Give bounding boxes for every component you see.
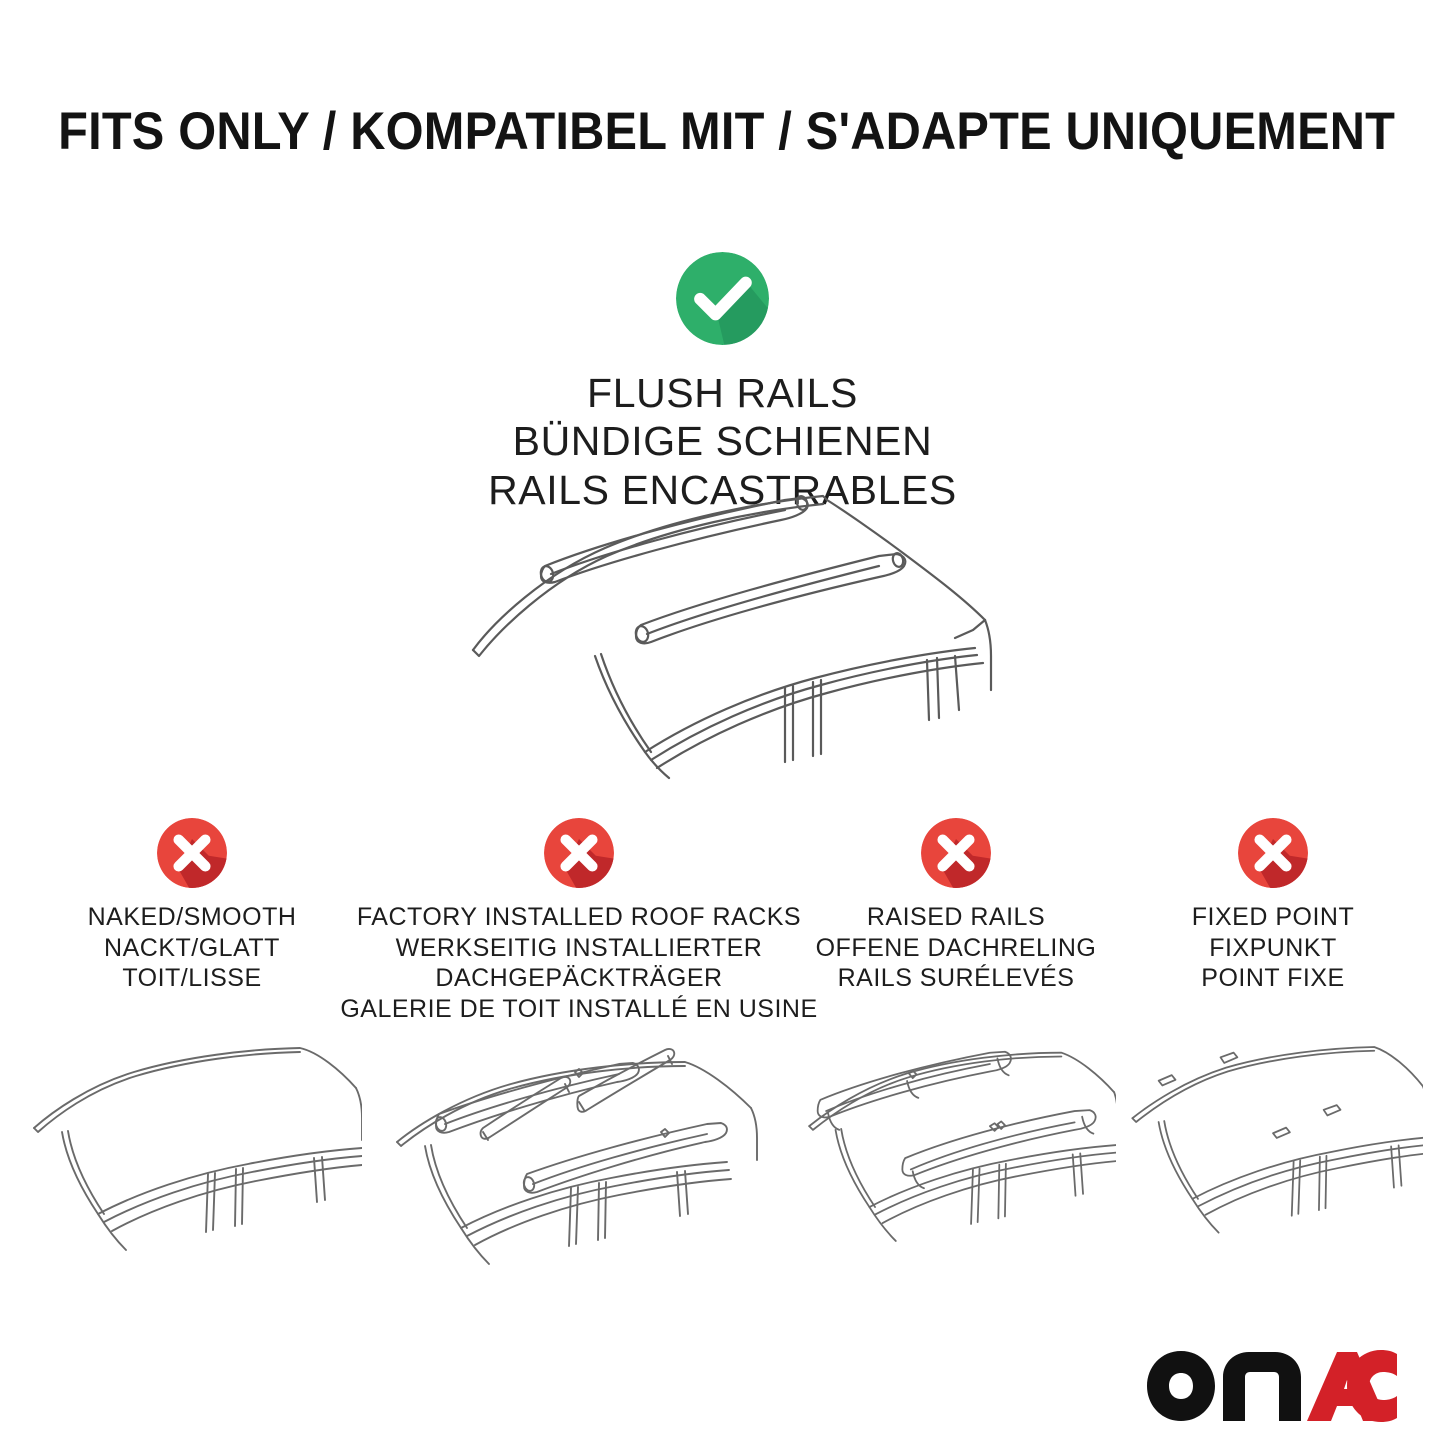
- incompatible-line-en: NAKED/SMOOTH: [88, 902, 297, 933]
- incompatible-line-fr: GALERIE DE TOIT INSTALLÉ EN USINE: [340, 994, 817, 1025]
- incompatible-caption: FIXED POINT FIXPUNKT POINT FIXE: [1192, 902, 1354, 994]
- page-title: FITS ONLY / KOMPATIBEL MIT / S'ADAPTE UN…: [58, 104, 1395, 160]
- car-roof-raised-rails-sketch: [796, 1032, 1116, 1282]
- cross-circle-icon: [157, 818, 227, 888]
- car-roof-factory-roof-racks-sketch: [369, 1036, 789, 1286]
- incompatible-line-en: RAISED RAILS: [816, 902, 1097, 933]
- incompatible-line-de: OFFENE DACHRELING: [816, 933, 1097, 964]
- car-roof-with-flush-rails-sketch: [455, 470, 1015, 780]
- cross-circle-icon: [921, 818, 991, 888]
- incompatible-line-fr: POINT FIXE: [1192, 963, 1354, 994]
- cross-circle-icon: [544, 818, 614, 888]
- check-circle-icon: [676, 252, 769, 345]
- incompatible-item-fixed-point: FIXED POINT FIXPUNKT POINT FIXE: [1123, 818, 1423, 1282]
- compatible-line-en: FLUSH RAILS: [0, 369, 1445, 417]
- incompatible-line-fr: TOIT/LISSE: [88, 963, 297, 994]
- incompatible-line-en: FIXED POINT: [1192, 902, 1354, 933]
- page-title-bar: FITS ONLY / KOMPATIBEL MIT / S'ADAPTE UN…: [0, 104, 1445, 160]
- incompatible-section: NAKED/SMOOTH NACKT/GLATT TOIT/LISSE: [0, 818, 1445, 1286]
- compatible-line-de: BÜNDIGE SCHIENEN: [0, 417, 1445, 465]
- incompatible-line-de: FIXPUNKT: [1192, 933, 1354, 964]
- incompatible-line-en: FACTORY INSTALLED ROOF RACKS: [340, 902, 817, 933]
- incompatible-item-naked-smooth: NAKED/SMOOTH NACKT/GLATT TOIT/LISSE: [22, 818, 362, 1282]
- incompatible-caption: NAKED/SMOOTH NACKT/GLATT TOIT/LISSE: [88, 902, 297, 994]
- incompatible-item-raised-rails: RAISED RAILS OFFENE DACHRELING RAILS SUR…: [796, 818, 1116, 1282]
- incompatible-caption: FACTORY INSTALLED ROOF RACKS WERKSEITIG …: [340, 902, 817, 1024]
- incompatible-line-de-2: DACHGEPÄCKTRÄGER: [340, 963, 817, 994]
- incompatible-line-de: NACKT/GLATT: [88, 933, 297, 964]
- car-roof-naked-smooth-sketch: [22, 1032, 362, 1282]
- incompatible-line-de-1: WERKSEITIG INSTALLIERTER: [340, 933, 817, 964]
- car-roof-fixed-point-sketch: [1123, 1032, 1423, 1282]
- cross-circle-icon: [1238, 818, 1308, 888]
- incompatible-caption: RAISED RAILS OFFENE DACHRELING RAILS SUR…: [816, 902, 1097, 994]
- incompatible-line-fr: RAILS SURÉLEVÉS: [816, 963, 1097, 994]
- incompatible-item-factory-roof-racks: FACTORY INSTALLED ROOF RACKS WERKSEITIG …: [369, 818, 789, 1286]
- omac-logo: [1147, 1347, 1397, 1425]
